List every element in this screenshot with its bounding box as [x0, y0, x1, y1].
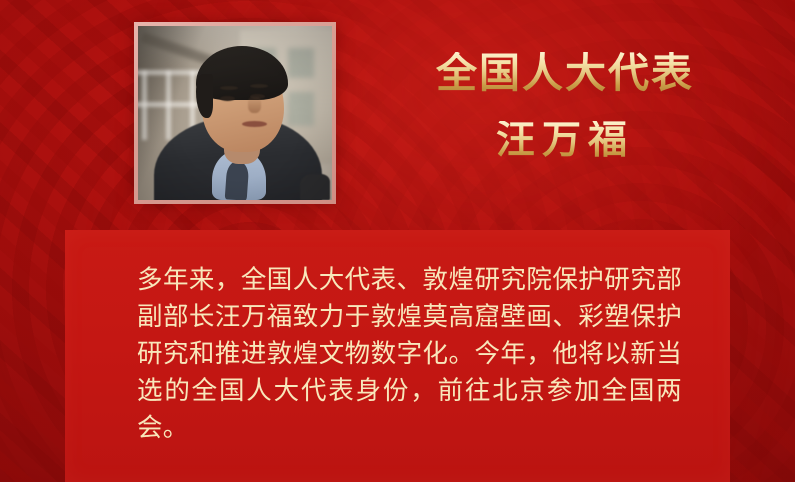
- body-paragraph: 多年来，全国人大代表、敦煌研究院保护研究部副部长汪万福致力于敦煌莫高窟壁画、彩塑…: [137, 262, 682, 447]
- poster-root: 全国人大代表 汪万福 多年来，全国人大代表、敦煌研究院保护研究部副部长汪万福致力…: [0, 0, 795, 482]
- deputy-name: 汪万福: [360, 121, 770, 162]
- portrait-image: [138, 26, 332, 200]
- heading-block: 全国人大代表 汪万福: [360, 52, 770, 162]
- portrait-frame: [134, 22, 336, 204]
- page-title: 全国人大代表: [360, 52, 770, 95]
- body-card: 多年来，全国人大代表、敦煌研究院保护研究部副部长汪万福致力于敦煌莫高窟壁画、彩塑…: [65, 230, 730, 482]
- photo-vignette: [138, 26, 332, 200]
